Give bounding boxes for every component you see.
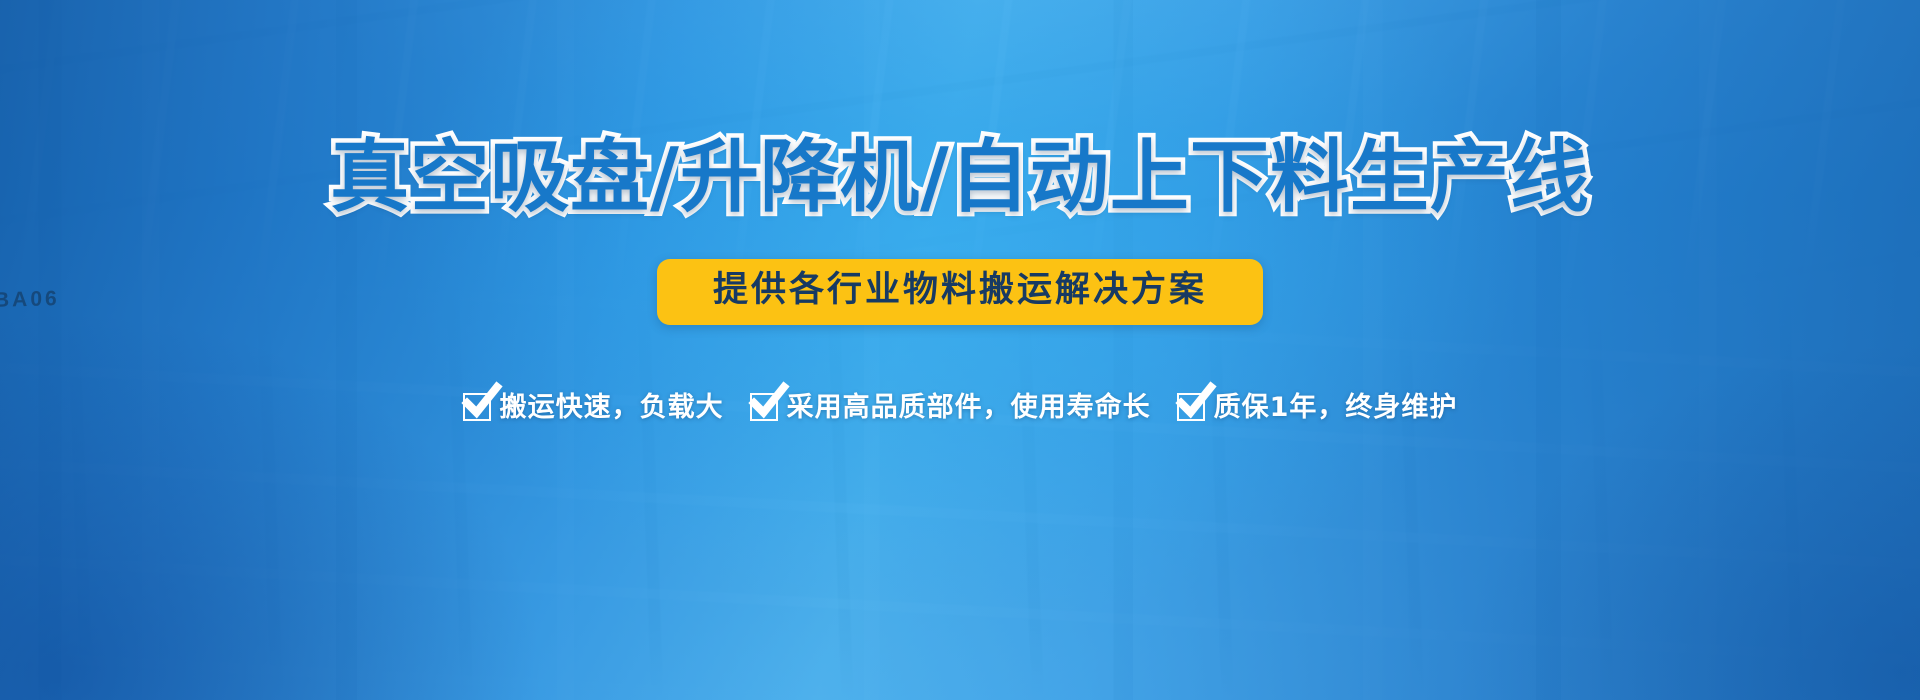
- list-item: 搬运快速，负载大: [463, 393, 724, 421]
- checkbox-checked-icon: [1177, 393, 1205, 421]
- checkbox-checked-icon: [750, 393, 778, 421]
- list-item-label: 采用高品质部件，使用寿命长: [787, 394, 1151, 421]
- feature-list: 搬运快速，负载大 采用高品质部件，使用寿命长 质保1年，终身维护: [463, 393, 1458, 421]
- list-item-label: 搬运快速，负载大: [500, 394, 724, 421]
- list-item: 采用高品质部件，使用寿命长: [750, 393, 1151, 421]
- checkbox-checked-icon: [463, 393, 491, 421]
- banner-content: 真空吸盘/升降机/自动上下料生产线 提供各行业物料搬运解决方案 搬运快速，负载大…: [0, 0, 1920, 700]
- list-item: 质保1年，终身维护: [1177, 393, 1458, 421]
- list-item-label: 质保1年，终身维护: [1214, 394, 1458, 421]
- page-title: 真空吸盘/升降机/自动上下料生产线: [330, 138, 1590, 217]
- subtitle-badge: 提供各行业物料搬运解决方案: [657, 259, 1263, 325]
- promo-banner: BA06 真空吸盘/升降机/自动上下料生产线 提供各行业物料搬运解决方案 搬运快…: [0, 0, 1920, 700]
